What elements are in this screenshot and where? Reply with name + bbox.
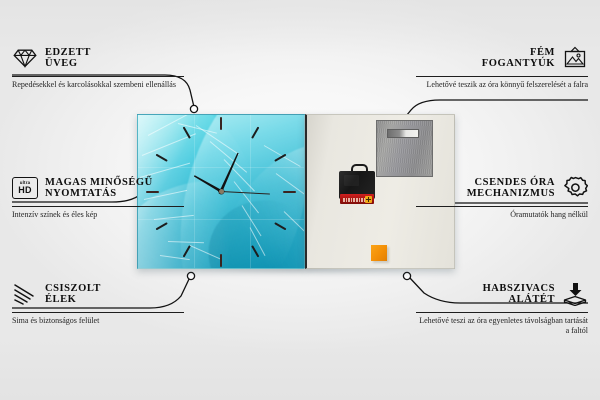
battery-stripe (348, 198, 350, 202)
foam-pad (371, 245, 387, 261)
clock-second-hand (218, 191, 270, 195)
callout-subtitle: Intenzív színek és éles kép (12, 210, 184, 220)
connector-endpoint-polished-edges (187, 272, 194, 279)
clock-tick (156, 222, 168, 230)
callout-title: EDZETT ÜVEG (45, 47, 91, 70)
battery-stripe (346, 198, 348, 202)
hanger-slot (387, 129, 419, 138)
battery-stripe (353, 198, 355, 202)
clock-center-cap (219, 189, 224, 194)
callout-polished-edges: CSISZOLT ÉLEK Sima és biztonságos felüle… (12, 278, 184, 326)
callout-metal-hangers: FÉM FOGANTYÚK Lehetővé teszik az óra kön… (416, 42, 588, 90)
callout-subtitle: Lehetővé teszik az óra könnyű felszerelé… (416, 80, 588, 90)
diamond-icon (12, 45, 38, 71)
callout-foam-pad: HABSZIVACS ALÁTÉT Lehetővé teszi az óra … (416, 278, 588, 336)
ultra-hd-icon: ultra HD (12, 175, 38, 201)
callout-rule (416, 76, 588, 77)
callout-title: MAGAS MINŐSÉGŰ NYOMTATÁS (45, 177, 153, 200)
clock-tick (156, 153, 168, 161)
polished-edge-icon (12, 281, 38, 307)
clock-tick (251, 245, 259, 257)
metal-hanger-plate (376, 120, 433, 177)
battery-stripe (351, 198, 353, 202)
clock-tick (283, 191, 296, 193)
infographic-canvas: EDZETT ÜVEG Repedésekkel és karcolásokka… (0, 0, 600, 400)
callout-rule (12, 312, 184, 313)
callout-title: CSISZOLT ÉLEK (45, 283, 101, 306)
battery-stripe (364, 198, 366, 202)
callout-title: CSENDES ÓRA MECHANIZMUS (467, 177, 555, 200)
battery-stripe (359, 198, 361, 202)
callout-rule (416, 312, 588, 313)
connector-endpoint-tempered-glass (190, 105, 197, 112)
battery-stripe (361, 198, 363, 202)
connector-endpoint-foam-pad (403, 272, 410, 279)
callout-tempered-glass: EDZETT ÜVEG Repedésekkel és karcolásokka… (12, 42, 184, 90)
clock-tick (220, 117, 222, 130)
battery (340, 194, 374, 204)
clock-tick (274, 222, 286, 230)
product-image (137, 114, 455, 269)
battery-stripe (343, 198, 345, 202)
arrow-down-layer-icon (562, 281, 588, 307)
callout-subtitle: Repedésekkel és karcolásokkal szembeni e… (12, 80, 184, 90)
clock-tick (251, 126, 259, 138)
callout-high-quality-print: ultra HD MAGAS MINŐSÉGŰ NYOMTATÁS Intenz… (12, 172, 184, 220)
ultra-hd-large-text: HD (18, 186, 31, 195)
callout-subtitle: Sima és biztonságos felület (12, 316, 184, 326)
callout-title: FÉM FOGANTYÚK (482, 47, 555, 70)
callout-title: HABSZIVACS ALÁTÉT (483, 283, 555, 306)
callout-rule (12, 76, 184, 77)
clock-tick (183, 245, 191, 257)
battery-stripe (356, 198, 358, 202)
clock-tick (220, 254, 222, 267)
callout-rule (416, 206, 588, 207)
picture-hanger-icon (562, 45, 588, 71)
callout-silent-mechanism: CSENDES ÓRA MECHANIZMUS Óramutatók hang … (416, 172, 588, 220)
callout-rule (12, 206, 184, 207)
clock-tick (183, 126, 191, 138)
callout-subtitle: Lehetővé teszi az óra egyenletes távolsá… (416, 316, 588, 336)
product-shadow (145, 268, 455, 281)
clock-mechanism (339, 169, 375, 207)
callout-subtitle: Óramutatók hang nélkül (416, 210, 588, 220)
clock-tick (274, 153, 286, 161)
gear-icon (562, 175, 588, 201)
battery-plus-marker (365, 196, 372, 203)
